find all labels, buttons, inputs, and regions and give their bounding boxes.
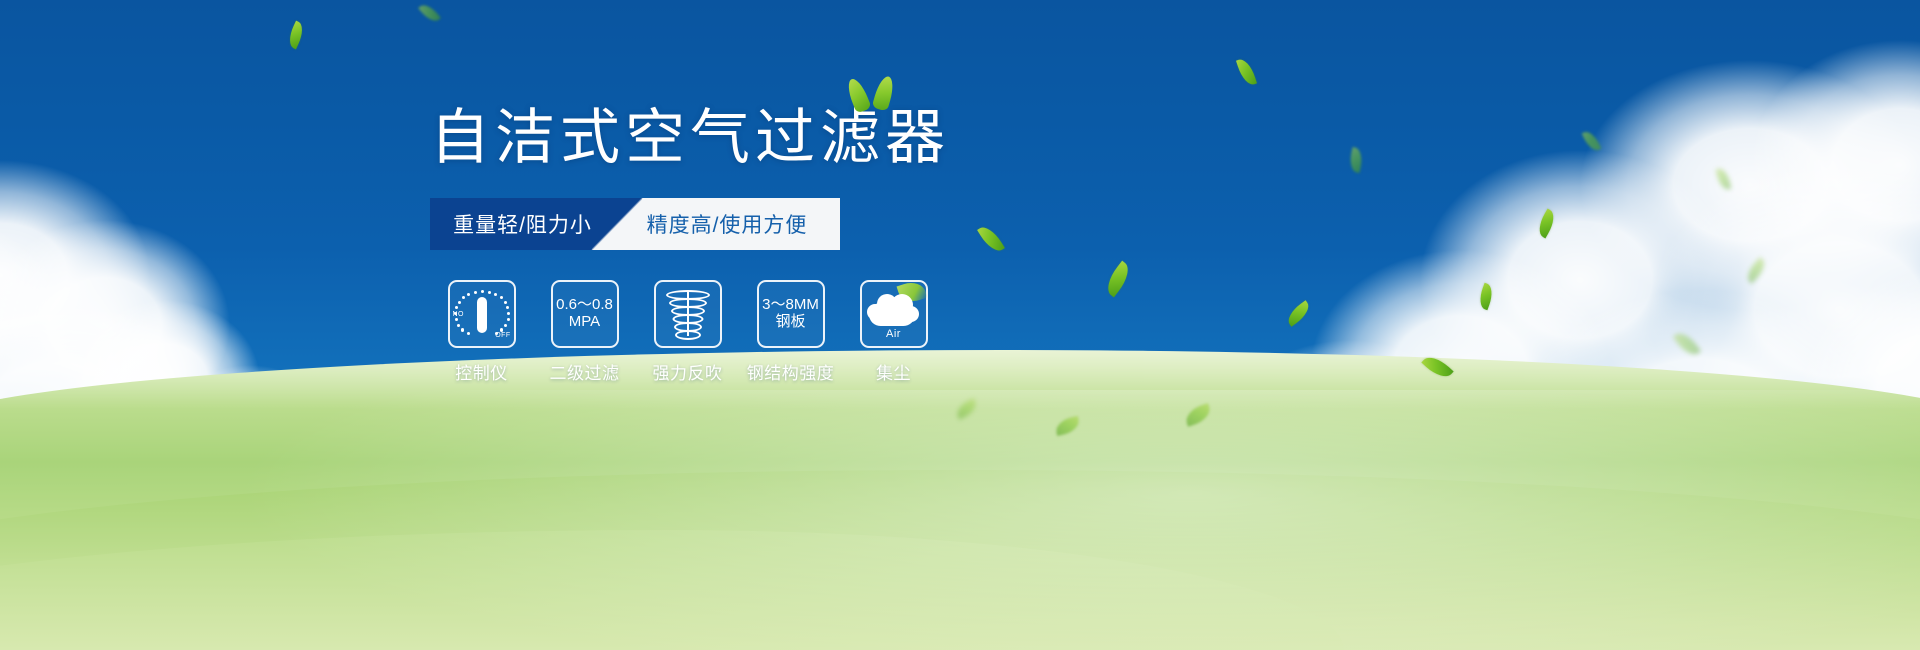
feature-item-two-stage-filter[interactable]: 0.6～0.8 MPA 二级过滤 bbox=[533, 280, 636, 384]
feature-icon-box: NO OFF bbox=[448, 280, 516, 348]
feature-label: 钢结构强度 bbox=[747, 359, 835, 384]
feature-label: 控制仪 bbox=[455, 359, 508, 384]
feature-item-dust-collection[interactable]: Air 集尘 bbox=[842, 280, 945, 384]
pressure-text-icon: 0.6～0.8 MPA bbox=[556, 297, 613, 331]
product-hero-banner: 自洁式空气过滤器 重量轻/阻力小 精度高/使用方便 bbox=[0, 0, 1920, 650]
feature-label: 强力反吹 bbox=[653, 359, 723, 384]
tag-right: 精度高/使用方便 bbox=[614, 198, 840, 250]
sprout-leaf-left bbox=[844, 76, 872, 114]
feature-icon-box: Air bbox=[860, 280, 928, 348]
filter-coil-icon bbox=[666, 288, 710, 340]
air-cloud-body bbox=[869, 303, 915, 326]
feature-item-steel-strength[interactable]: 3～8MM 钢板 钢结构强度 bbox=[739, 280, 842, 384]
tag-left: 重量轻/阻力小 bbox=[430, 198, 615, 250]
feature-icon-box: 0.6～0.8 MPA bbox=[551, 280, 619, 348]
gauge-off-label: OFF bbox=[495, 332, 510, 339]
feature-label: 集尘 bbox=[876, 359, 911, 384]
steel-line-1: 3～8MM bbox=[762, 297, 819, 314]
feature-icon-box: 3～8MM 钢板 bbox=[757, 280, 825, 348]
sprout-leaf-right bbox=[872, 74, 897, 111]
feature-item-controller[interactable]: NO OFF 控制仪 bbox=[430, 280, 533, 384]
gauge-on-label: NO bbox=[453, 311, 464, 318]
banner-content: 自洁式空气过滤器 重量轻/阻力小 精度高/使用方便 bbox=[430, 108, 1190, 384]
feature-icon-box bbox=[654, 280, 722, 348]
steel-line-2: 钢板 bbox=[762, 314, 819, 331]
page-title: 自洁式空气过滤器 bbox=[430, 108, 950, 168]
steel-plate-text-icon: 3～8MM 钢板 bbox=[762, 297, 819, 331]
gauge-dial-icon: NO OFF bbox=[454, 288, 510, 340]
pressure-line-1: 0.6～0.8 bbox=[556, 297, 613, 314]
leaf-sprout-icon bbox=[846, 74, 906, 114]
feature-tag-bar: 重量轻/阻力小 精度高/使用方便 bbox=[430, 198, 840, 250]
air-label: Air bbox=[865, 328, 923, 340]
page-title-wrapper: 自洁式空气过滤器 bbox=[430, 108, 950, 168]
feature-icon-list: NO OFF 控制仪 0.6～0.8 MPA 二级过滤 bbox=[430, 280, 1190, 384]
gauge-needle bbox=[477, 297, 487, 333]
feature-label: 二级过滤 bbox=[550, 359, 620, 384]
feature-item-back-blow[interactable]: 强力反吹 bbox=[636, 280, 739, 384]
pressure-line-2: MPA bbox=[556, 314, 613, 331]
air-cloud-icon: Air bbox=[865, 290, 923, 338]
